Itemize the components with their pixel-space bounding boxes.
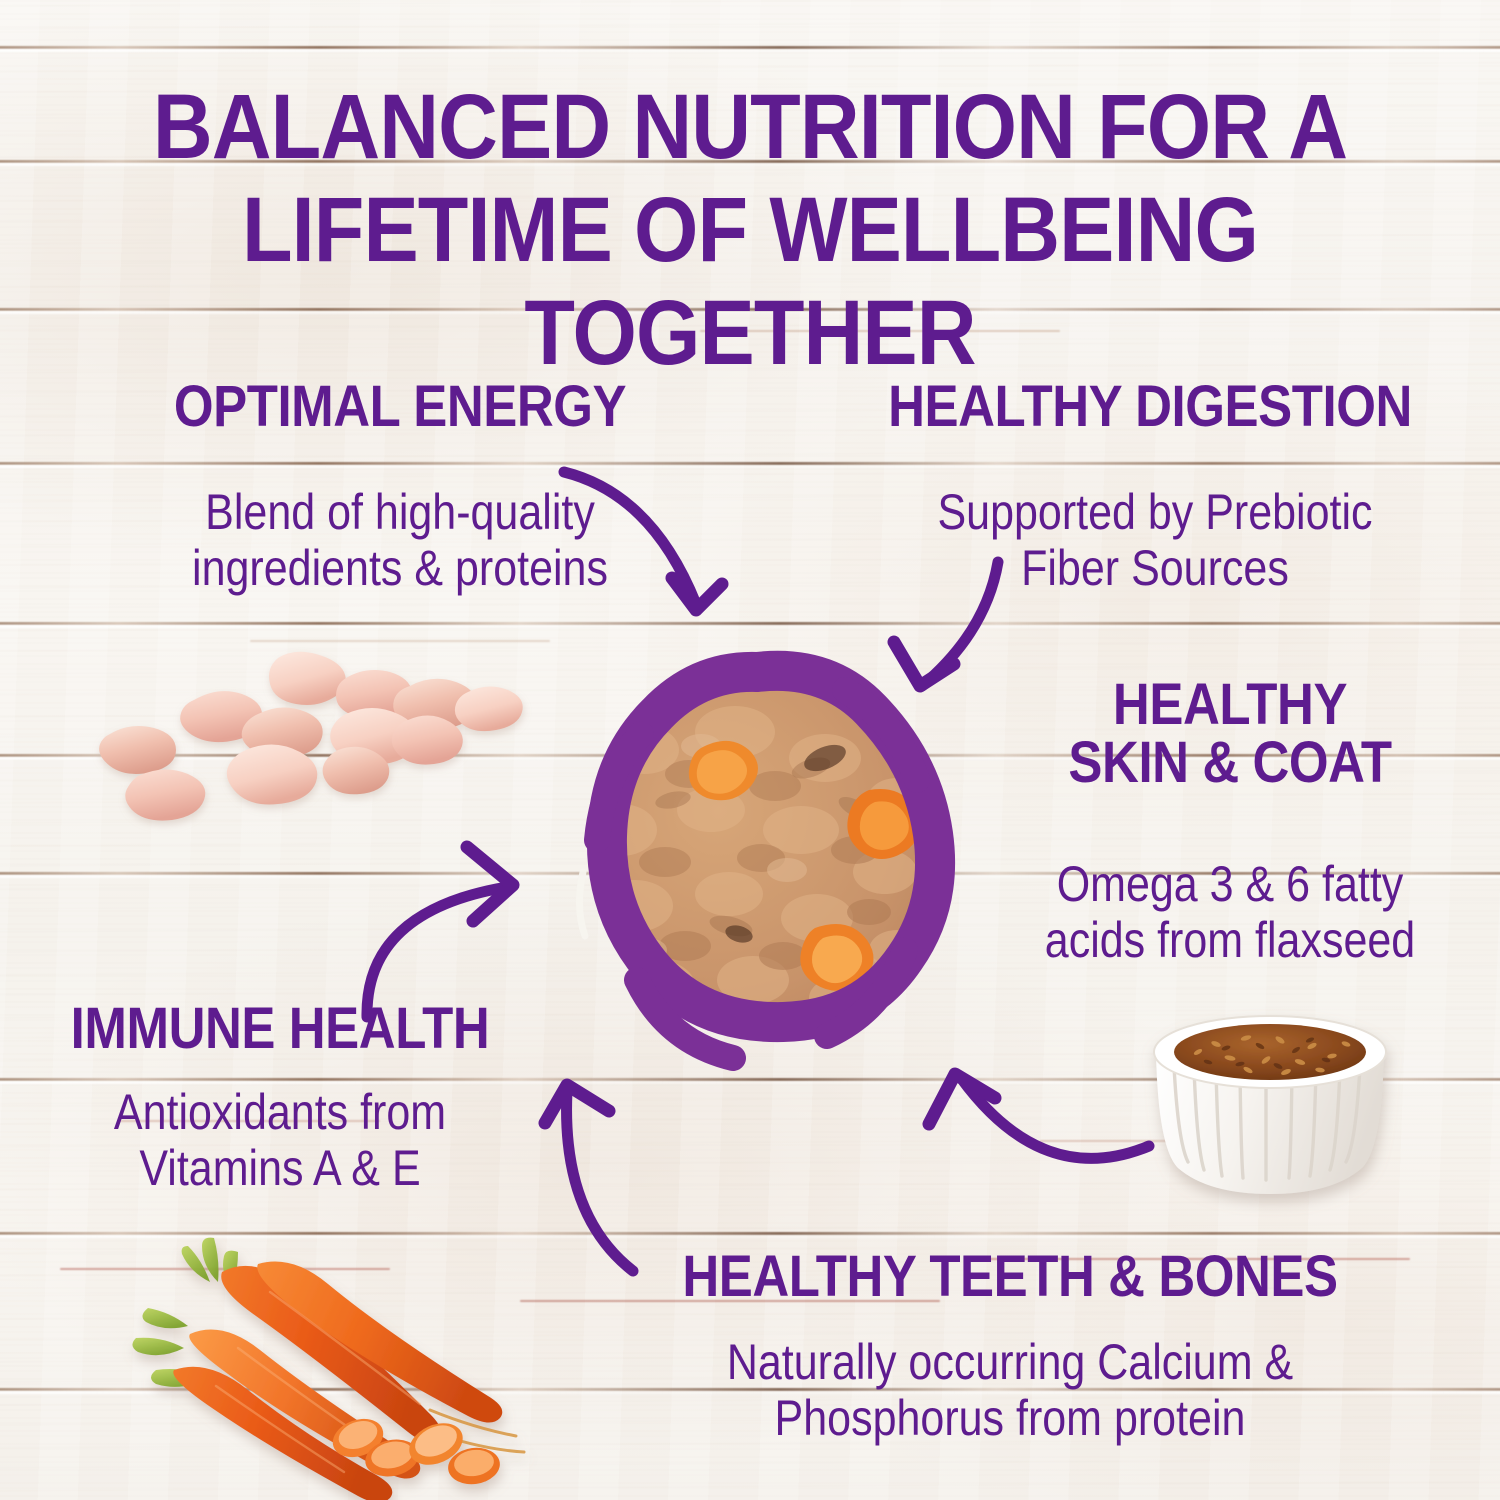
benefit-body-healthy-teeth-bones: Naturally occurring Calcium & Phosphorus…: [640, 1334, 1380, 1446]
benefit-body-immune-health: Antioxidants from Vitamins A & E: [39, 1084, 521, 1196]
benefit-heading-healthy-skin-coat: HEALTHY SKIN & COAT: [992, 676, 1467, 792]
plank-seam: [0, 462, 1500, 467]
benefit-body-healthy-digestion: Supported by Prebiotic Fiber Sources: [858, 484, 1451, 596]
benefit-heading-healthy-teeth-bones: HEALTHY TEETH & BONES: [632, 1248, 1389, 1306]
benefit-heading-optimal-energy: OPTIMAL ENERGY: [101, 378, 699, 436]
benefit-heading-healthy-digestion: HEALTHY DIGESTION: [842, 378, 1458, 436]
benefit-heading-immune-health: IMMUNE HEALTH: [34, 1000, 527, 1058]
flaxseed-ramekin-image: [1120, 1000, 1420, 1210]
arrow-flaxseed-to-food: [925, 1050, 1155, 1200]
plank-seam: [0, 46, 1500, 51]
infographic-canvas: BALANCED NUTRITION FOR A LIFETIME OF WEL…: [0, 0, 1500, 1500]
page-title: BALANCED NUTRITION FOR A LIFETIME OF WEL…: [75, 76, 1425, 385]
benefit-body-optimal-energy: Blend of high-quality ingredients & prot…: [103, 484, 696, 596]
carrots-image: [130, 1230, 560, 1500]
benefit-body-healthy-skin-coat: Omega 3 & 6 fatty acids from flaxseed: [998, 856, 1462, 968]
raw-chicken-cubes-image: [110, 640, 560, 850]
